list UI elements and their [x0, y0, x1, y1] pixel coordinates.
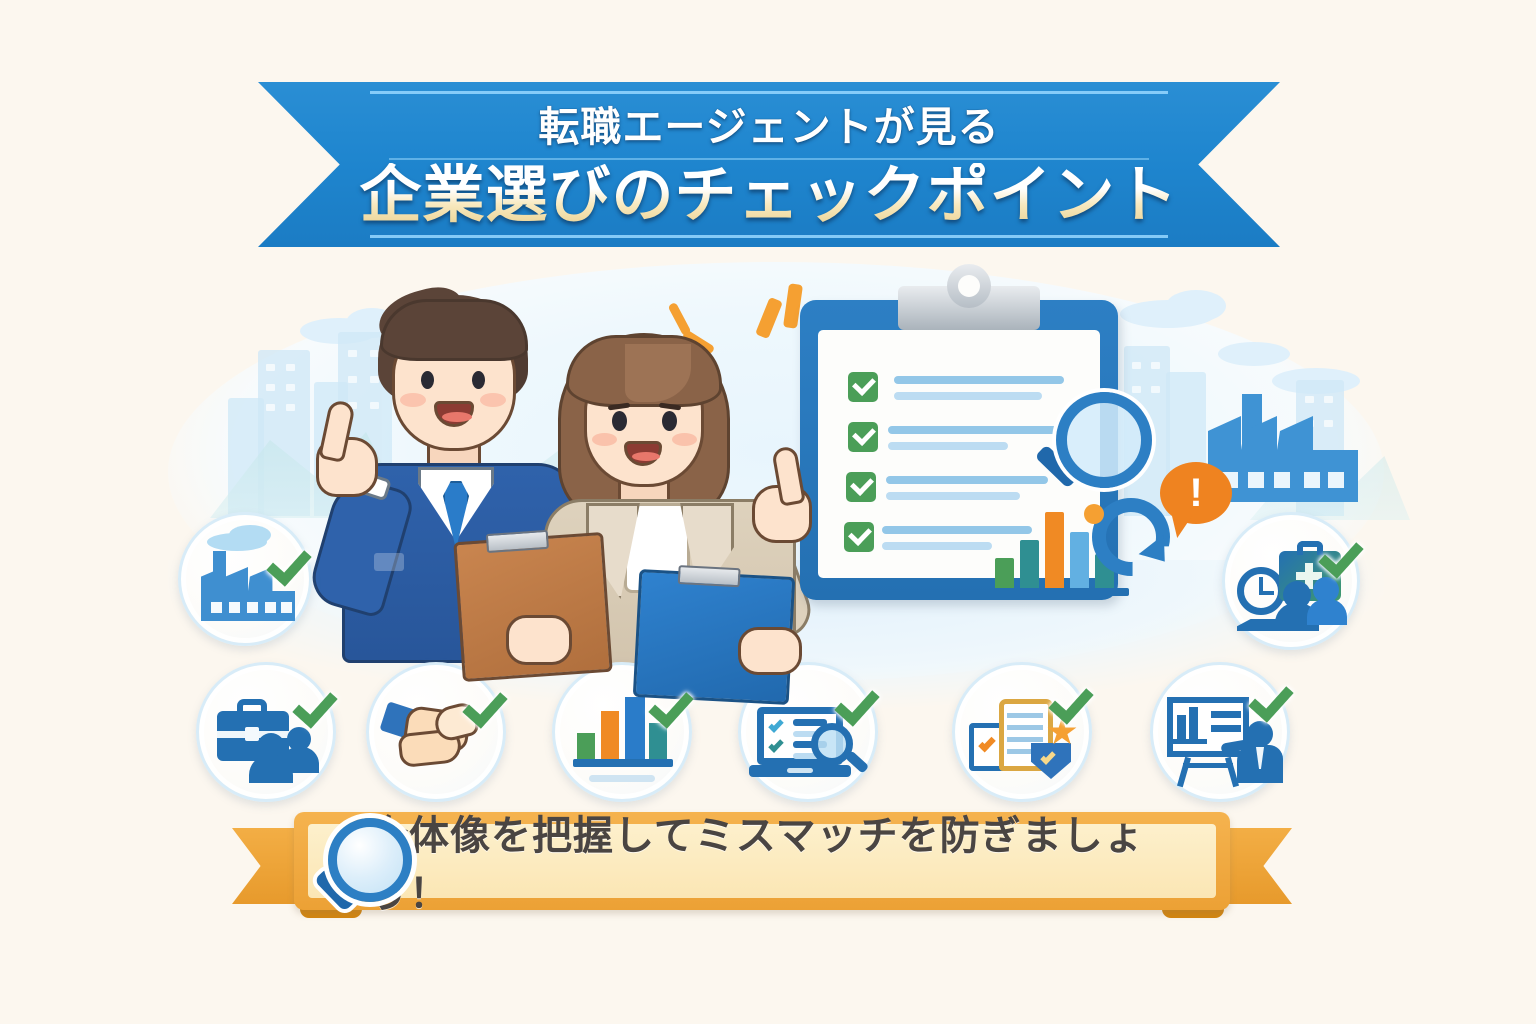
holding-hand: [506, 615, 572, 665]
text-line: [894, 392, 1042, 400]
holding-hand: [738, 627, 802, 675]
title-banner: 転職エージェントが見る 企業選びのチェックポイント: [258, 82, 1280, 247]
document-star-icon-badge[interactable]: [952, 662, 1092, 802]
clipboard-clip: [486, 530, 549, 553]
ribbon-text: 全体像を把握してミスマッチを防ぎましょう！: [368, 803, 1216, 919]
clipboard-clip: [678, 565, 741, 587]
ribbon-inner-panel: 全体像を把握してミスマッチを防ぎましょう！: [308, 824, 1216, 898]
pointing-hand: [746, 449, 820, 545]
pointing-hand: [312, 403, 386, 499]
clipboard-metal-clip: [898, 286, 1040, 330]
hair-bangs: [566, 335, 722, 407]
blush: [672, 433, 697, 446]
checkmark-icon: [844, 522, 874, 552]
hair-front: [380, 299, 528, 361]
magnifier-icon: [1056, 392, 1152, 488]
presentation-icon-badge[interactable]: [1150, 662, 1290, 802]
factory-roof: [1208, 416, 1358, 450]
cloud-icon: [1166, 290, 1226, 322]
blush: [400, 393, 426, 407]
alert-badge: !: [1160, 462, 1232, 524]
easel-leg: [1177, 757, 1191, 787]
magnifier-icon: [320, 818, 418, 916]
suit-pocket: [374, 553, 404, 571]
text-line: [882, 542, 992, 550]
banner-main-title: 企業選びのチェックポイント: [359, 163, 1178, 230]
banner-divider: [389, 158, 1149, 160]
eye: [472, 371, 485, 389]
text-line: [888, 426, 1058, 434]
factory-icon-badge[interactable]: [178, 512, 312, 646]
cloud-icon: [1218, 342, 1290, 366]
checkmark-icon: [848, 372, 878, 402]
briefcase-people-icon-badge[interactable]: [196, 662, 336, 802]
text-line: [886, 492, 1020, 500]
text-line: [888, 442, 1008, 450]
refresh-icon: [1092, 498, 1170, 576]
benefits-icon-badge[interactable]: [1222, 512, 1360, 650]
smoke-icon: [229, 525, 271, 545]
ribbon-body: 全体像を把握してミスマッチを防ぎましょう！: [294, 812, 1230, 910]
eye: [662, 411, 677, 431]
shield-icon: [1031, 743, 1071, 779]
banner-accent-line-top: [370, 91, 1167, 94]
advisor-characters: [300, 285, 820, 665]
blush: [592, 433, 617, 446]
text-line: [894, 376, 1064, 384]
eye: [612, 411, 627, 431]
blush: [480, 393, 506, 407]
text-line: [886, 476, 1048, 484]
eye: [421, 371, 434, 389]
banner-subtitle: 転職エージェントが見る: [538, 105, 999, 150]
chart-baseline: [989, 588, 1129, 596]
handshake-icon-badge[interactable]: [366, 662, 506, 802]
checkmark-icon: [846, 472, 876, 502]
banner-accent-line-bottom: [370, 235, 1167, 238]
checkmark-icon: [848, 422, 878, 452]
clipboard-ring: [947, 264, 991, 308]
bottom-ribbon: 全体像を把握してミスマッチを防ぎましょう！: [232, 812, 1292, 924]
